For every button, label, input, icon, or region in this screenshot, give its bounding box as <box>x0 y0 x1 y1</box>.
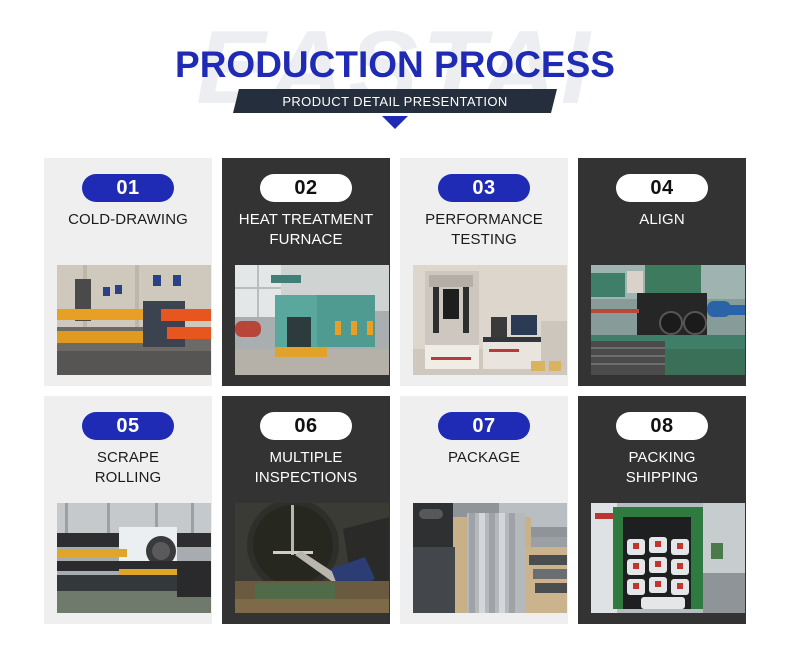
step-label: SCRAPE ROLLING <box>50 448 206 488</box>
step-number-badge: 02 <box>260 174 352 202</box>
step-number-badge: 06 <box>260 412 352 440</box>
process-step-card[interactable]: 03PERFORMANCE TESTING <box>400 158 568 386</box>
process-step-card[interactable]: 05SCRAPE ROLLING <box>44 396 212 624</box>
production-process-infographic: EASTAI PRODUCTION PROCESS PRODUCT DETAIL… <box>0 0 790 666</box>
header: EASTAI PRODUCTION PROCESS PRODUCT DETAIL… <box>0 0 790 152</box>
step-label: ALIGN <box>584 210 740 230</box>
multiple-inspections-photo <box>235 503 389 613</box>
step-label: PACKING SHIPPING <box>584 448 740 488</box>
step-number-badge: 07 <box>438 412 530 440</box>
align-machine-photo <box>591 265 745 375</box>
step-label: PERFORMANCE TESTING <box>406 210 562 250</box>
process-step-card[interactable]: 06MULTIPLE INSPECTIONS <box>222 396 390 624</box>
step-number-badge: 03 <box>438 174 530 202</box>
heat-treatment-furnace-photo <box>235 265 389 375</box>
process-step-card[interactable]: 07PACKAGE <box>400 396 568 624</box>
process-step-grid: 01COLD-DRAWING02HEAT TREATMENT FURNACE03… <box>44 158 746 624</box>
step-label: HEAT TREATMENT FURNACE <box>228 210 384 250</box>
arrow-down-icon <box>382 116 408 129</box>
step-label: MULTIPLE INSPECTIONS <box>228 448 384 488</box>
step-number-badge: 08 <box>616 412 708 440</box>
process-step-card[interactable]: 01COLD-DRAWING <box>44 158 212 386</box>
cold-drawing-machine-photo <box>57 265 211 375</box>
page-title: PRODUCTION PROCESS <box>0 46 790 85</box>
subtitle-banner: PRODUCT DETAIL PRESENTATION <box>233 89 557 113</box>
process-step-card[interactable]: 04ALIGN <box>578 158 746 386</box>
step-number-badge: 01 <box>82 174 174 202</box>
process-step-card[interactable]: 02HEAT TREATMENT FURNACE <box>222 158 390 386</box>
subtitle-text: PRODUCT DETAIL PRESENTATION <box>233 89 557 113</box>
packaged-steel-bars-photo <box>413 503 567 613</box>
performance-testing-lab-photo <box>413 265 567 375</box>
step-number-badge: 05 <box>82 412 174 440</box>
step-label: PACKAGE <box>406 448 562 468</box>
process-step-card[interactable]: 08PACKING SHIPPING <box>578 396 746 624</box>
scrape-rolling-machine-photo <box>57 503 211 613</box>
container-loading-photo <box>591 503 745 613</box>
step-label: COLD-DRAWING <box>50 210 206 230</box>
step-number-badge: 04 <box>616 174 708 202</box>
